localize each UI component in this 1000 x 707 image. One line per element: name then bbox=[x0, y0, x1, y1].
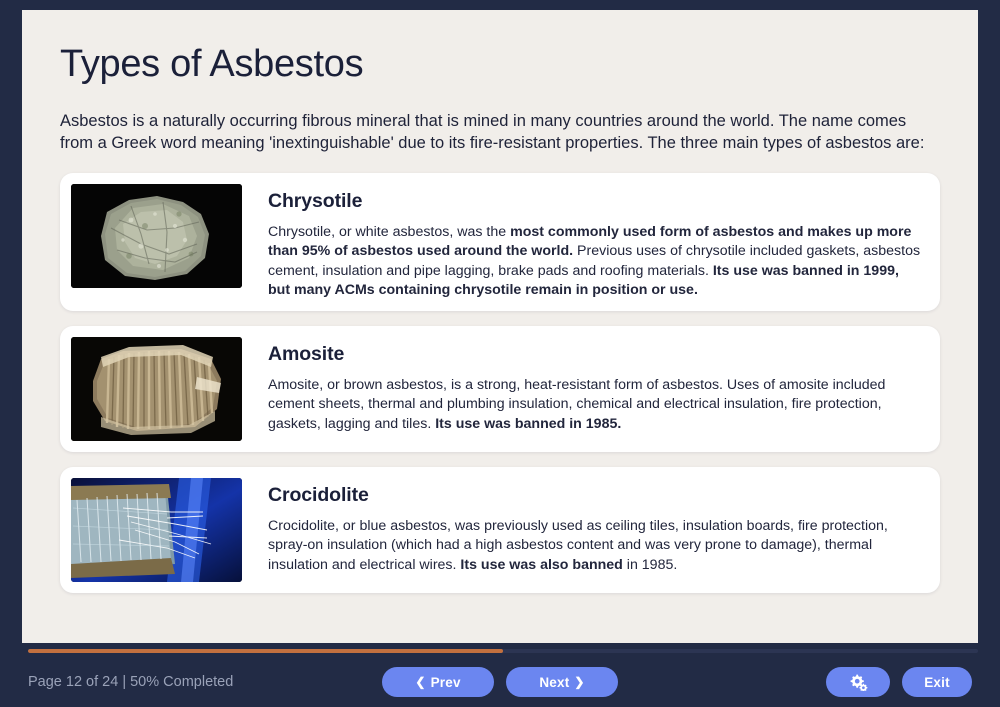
crocidolite-rock-photo bbox=[71, 478, 242, 582]
card-body: Amosite Amosite, or brown asbestos, is a… bbox=[242, 337, 927, 434]
slide-frame: Types of Asbestos Asbestos is a naturall… bbox=[22, 10, 978, 643]
asbestos-type-card-list: Chrysotile Chrysotile, or white asbestos… bbox=[60, 173, 940, 593]
course-progress-bar bbox=[28, 649, 978, 653]
list-item[interactable]: Chrysotile Chrysotile, or white asbestos… bbox=[60, 173, 940, 311]
navigation-buttons: ❮ Prev Next ❯ bbox=[382, 667, 618, 697]
card-description: Chrysotile, or white asbestos, was the m… bbox=[268, 223, 923, 300]
exit-button[interactable]: Exit bbox=[902, 667, 972, 697]
card-heading: Amosite bbox=[268, 343, 923, 366]
card-body: Chrysotile Chrysotile, or white asbestos… bbox=[242, 184, 927, 300]
next-button-label: Next bbox=[539, 675, 569, 690]
page-status-text: Page 12 of 24 | 50% Completed bbox=[28, 674, 233, 690]
list-item[interactable]: Amosite Amosite, or brown asbestos, is a… bbox=[60, 326, 940, 452]
slide-content: Types of Asbestos Asbestos is a naturall… bbox=[22, 10, 978, 593]
footer-controls-row: Page 12 of 24 | 50% Completed ❮ Prev Nex… bbox=[0, 657, 1000, 707]
settings-button[interactable] bbox=[826, 667, 890, 697]
utility-buttons: Exit bbox=[826, 667, 972, 697]
amosite-rock-photo bbox=[71, 337, 242, 441]
course-player-viewport: Types of Asbestos Asbestos is a naturall… bbox=[0, 0, 1000, 707]
page-title: Types of Asbestos bbox=[60, 44, 940, 85]
card-description: Amosite, or brown asbestos, is a strong,… bbox=[268, 376, 923, 434]
gears-icon bbox=[849, 674, 868, 691]
player-footer: Page 12 of 24 | 50% Completed ❮ Prev Nex… bbox=[0, 643, 1000, 707]
intro-paragraph: Asbestos is a naturally occurring fibrou… bbox=[60, 111, 940, 155]
course-progress-fill bbox=[28, 649, 503, 653]
card-heading: Crocidolite bbox=[268, 484, 923, 507]
list-item[interactable]: Crocidolite Crocidolite, or blue asbesto… bbox=[60, 467, 940, 593]
chrysotile-rock-photo bbox=[71, 184, 242, 288]
prev-button-label: Prev bbox=[431, 675, 461, 690]
chevron-right-icon: ❯ bbox=[574, 676, 584, 688]
next-button[interactable]: Next ❯ bbox=[506, 667, 618, 697]
card-body: Crocidolite Crocidolite, or blue asbesto… bbox=[242, 478, 927, 575]
card-description: Crocidolite, or blue asbestos, was previ… bbox=[268, 517, 923, 575]
prev-button[interactable]: ❮ Prev bbox=[382, 667, 494, 697]
card-heading: Chrysotile bbox=[268, 190, 923, 213]
exit-button-label: Exit bbox=[924, 675, 950, 690]
chevron-left-icon: ❮ bbox=[415, 676, 425, 688]
